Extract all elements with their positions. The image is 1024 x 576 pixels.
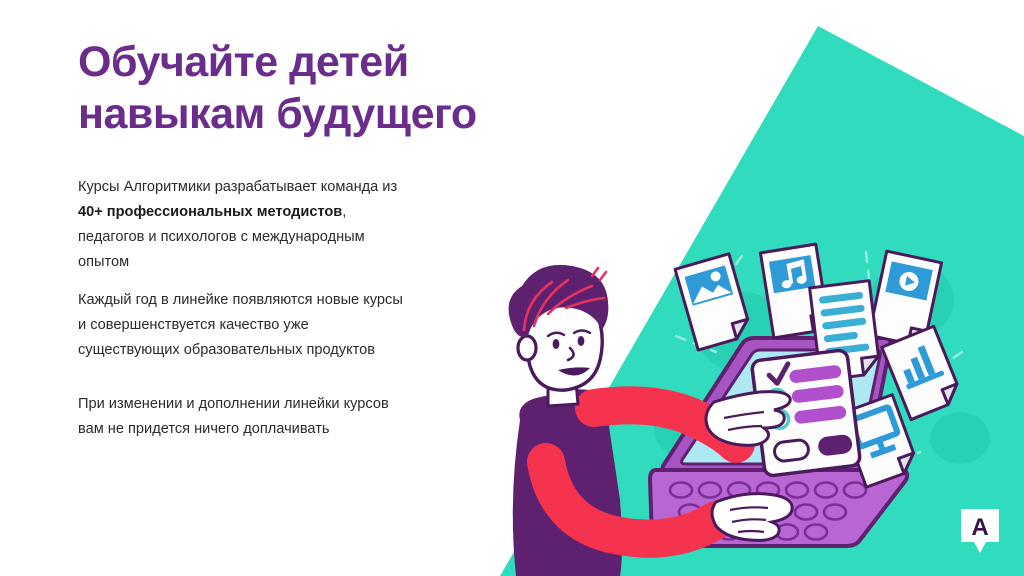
body-text-run: Курсы Алгоритмики разрабатывает команда …: [78, 179, 397, 195]
checklist-button-outline: [773, 439, 809, 462]
body-text-emphasis: 40+ профессиональных методистов: [78, 204, 342, 220]
logo-letter: A: [971, 514, 988, 541]
page-title: Обучайте детей навыкам будущего: [78, 36, 548, 141]
body-text-run: При изменении и дополнении линейки курсо…: [78, 396, 389, 437]
algorithmika-logo[interactable]: A: [958, 506, 1002, 556]
body-paragraph: При изменении и дополнении линейки курсо…: [78, 392, 408, 442]
body-text-run: Каждый год в линейке появляются новые ку…: [78, 292, 403, 358]
slide-root: Обучайте детей навыкам будущего Курсы Ал…: [0, 0, 1024, 576]
character-ear: [518, 336, 536, 360]
body-paragraph: Курсы Алгоритмики разрабатывает команда …: [78, 175, 408, 275]
body-paragraph: Каждый год в линейке появляются новые ку…: [78, 288, 408, 363]
